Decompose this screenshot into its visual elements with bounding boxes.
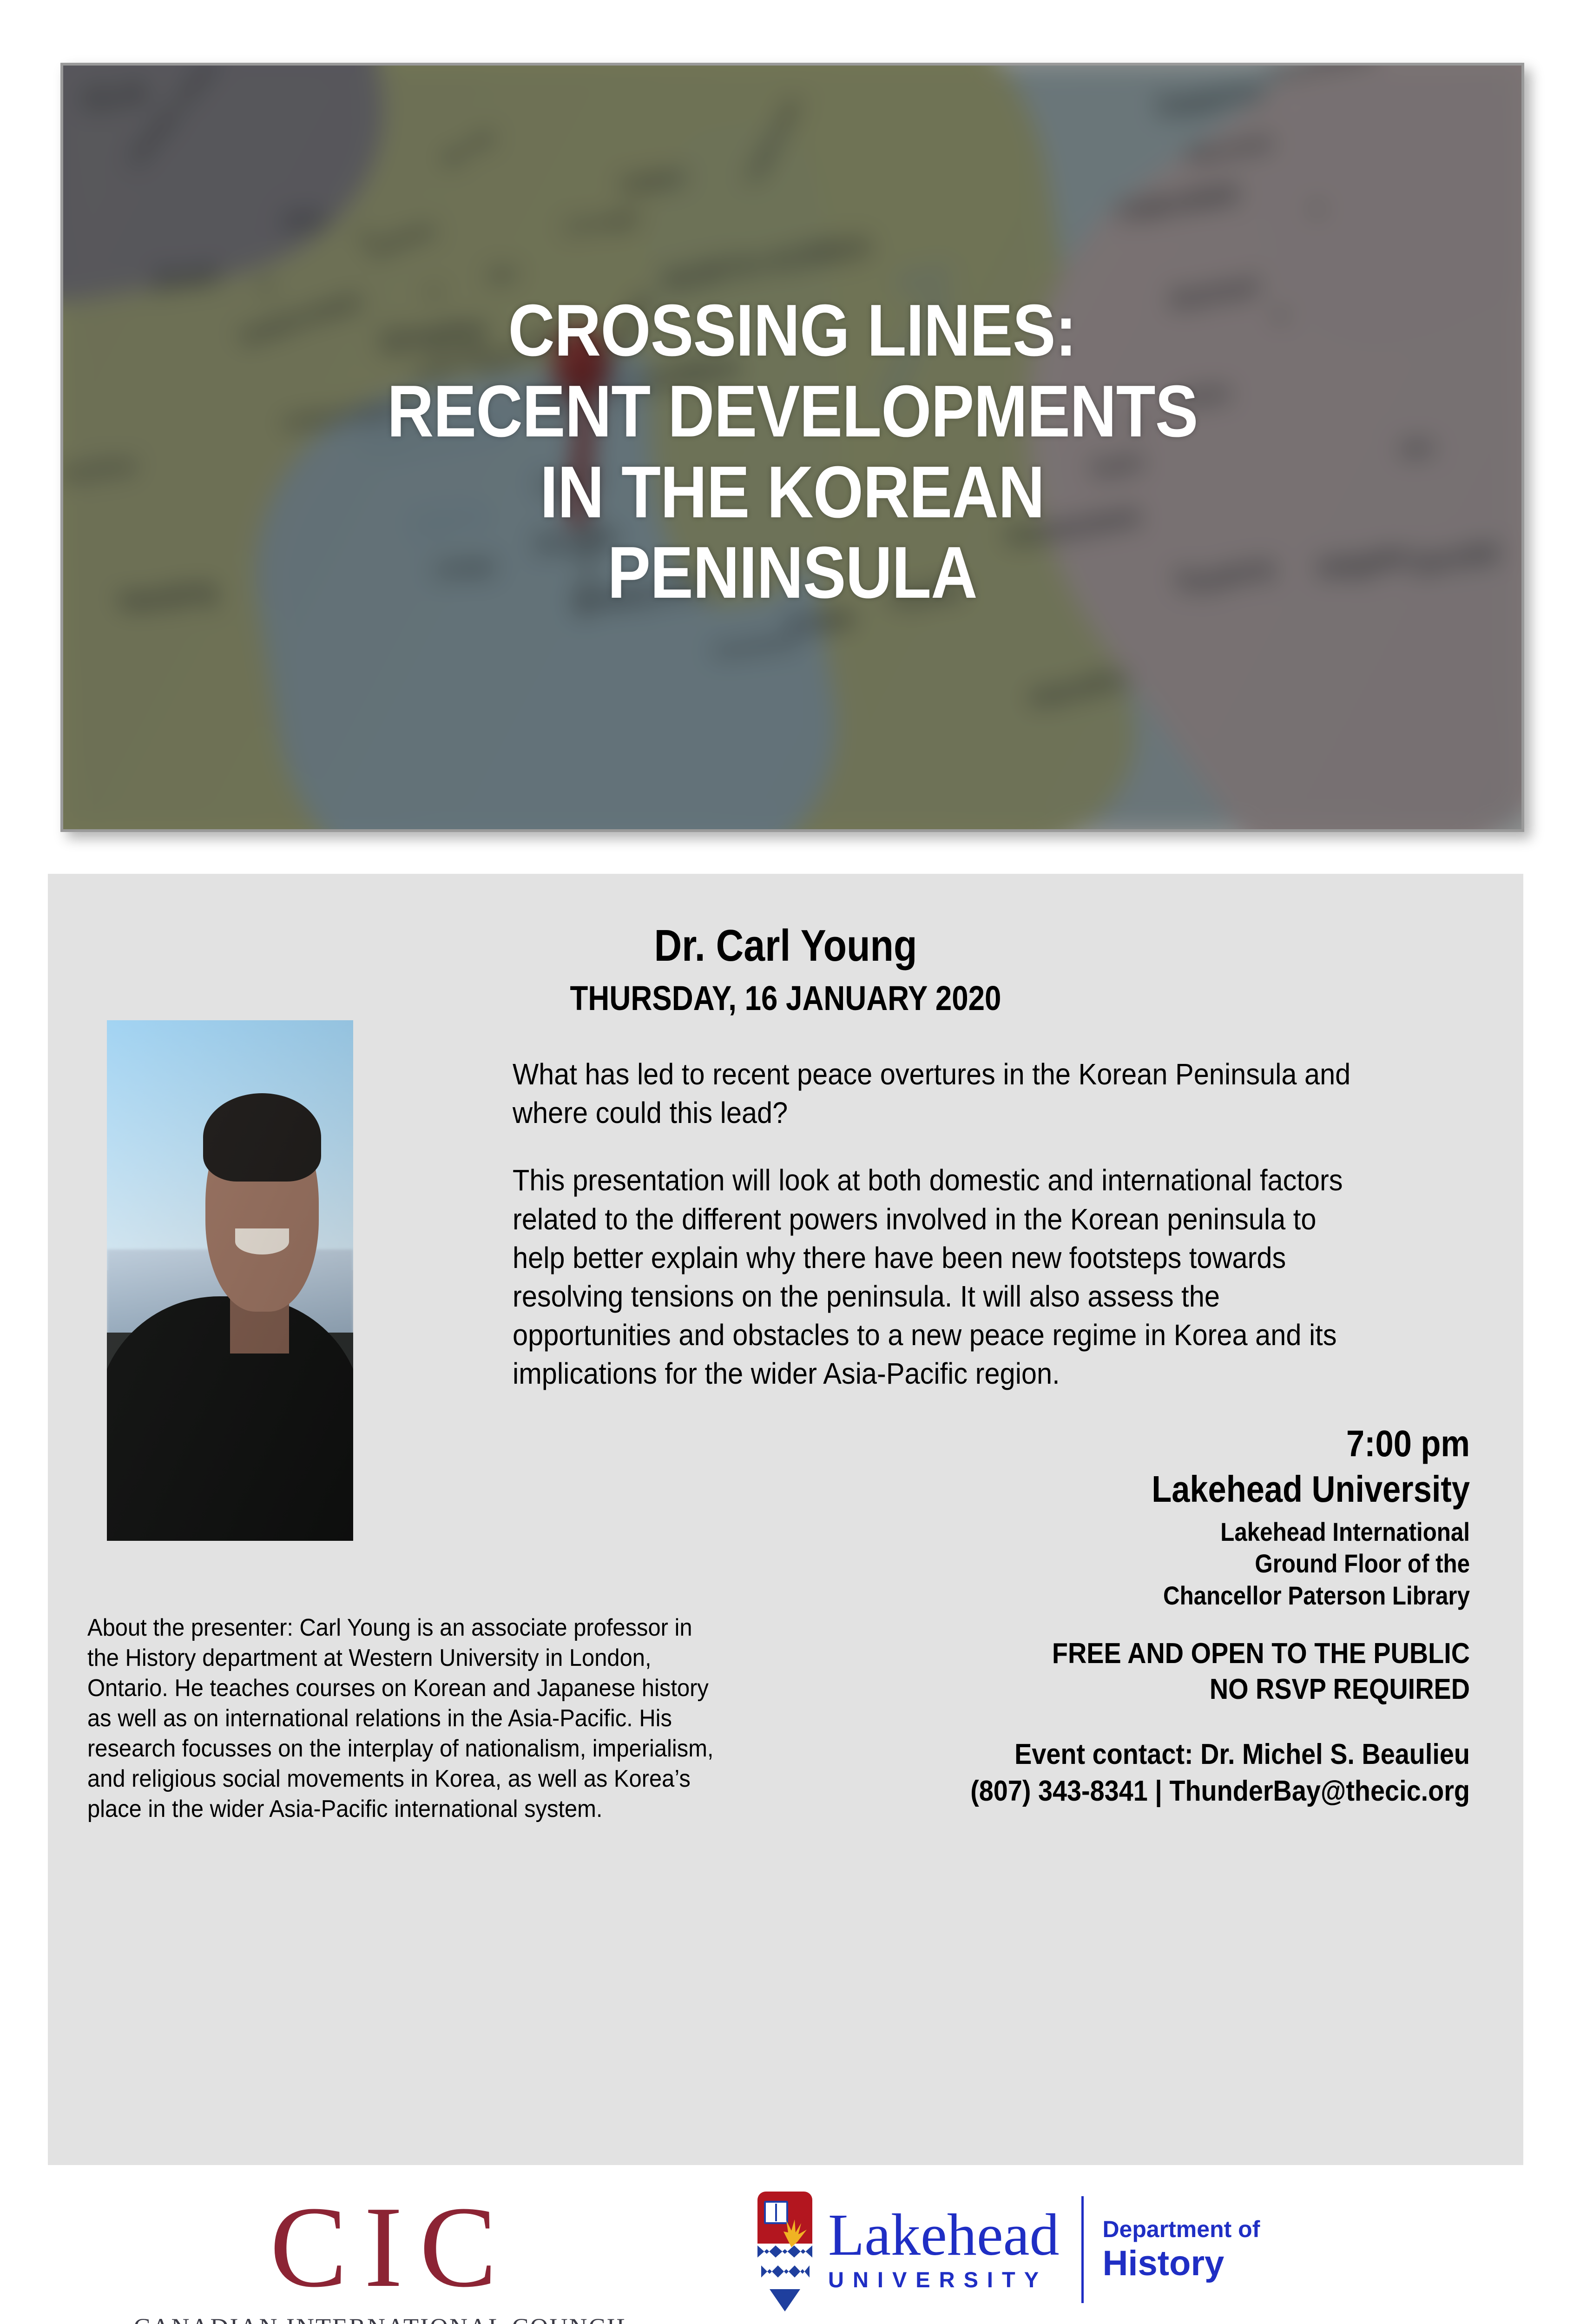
crest-point <box>770 2289 800 2311</box>
crest-sunburst-icon <box>774 2214 809 2247</box>
lakehead-divider <box>1081 2196 1084 2303</box>
lakehead-tag-line-2: History <box>1102 2245 1260 2283</box>
lakehead-name: Lakehead <box>828 2207 1059 2264</box>
lakehead-history-logo[interactable]: Lakehead UNIVERSITY Department of Histor… <box>757 2192 1260 2308</box>
poster-title: CROSSING LINES: RECENT DEVELOPMENTS IN T… <box>63 66 1521 829</box>
lakehead-university-label: UNIVERSITY <box>828 2267 1059 2292</box>
admission-line-1: FREE AND OPEN TO THE PUBLIC <box>759 1636 1470 1672</box>
cic-subtitle-en: CANADIAN INTERNATIONAL COUNCIL <box>93 2313 674 2324</box>
logo-row: CIC CANADIAN INTERNATIONAL COUNCIL CONSE… <box>0 2175 1580 2324</box>
cic-wordmark: CIC <box>93 2189 674 2305</box>
crest-wave-1 <box>757 2244 812 2262</box>
lakehead-crest-icon <box>757 2192 812 2308</box>
title-line-2: RECENT DEVELOPMENTS <box>387 371 1198 452</box>
venue-block: 7:00 pm Lakehead University Lakehead Int… <box>680 1422 1470 1611</box>
lakehead-tag-line-1: Department of <box>1102 2217 1260 2242</box>
venue-institution: Lakehead University <box>775 1468 1470 1511</box>
lakehead-tagline: Department of History <box>1102 2217 1260 2283</box>
title-line-3: IN THE KOREAN <box>540 452 1044 533</box>
venue-line-3: Chancellor Paterson Library <box>775 1580 1470 1611</box>
venue-line-1: Lakehead International <box>775 1516 1470 1548</box>
admission-line-2: NO RSVP REQUIRED <box>759 1672 1470 1708</box>
description-paragraph-2: This presentation will look at both dome… <box>513 1161 1368 1393</box>
contact-name: Event contact: Dr. Michel S. Beaulieu <box>742 1736 1470 1773</box>
presenter-bio: About the presenter: Carl Young is an as… <box>87 1613 717 1824</box>
description-paragraph-1: What has led to recent peace overtures i… <box>513 1055 1368 1132</box>
cic-logo[interactable]: CIC CANADIAN INTERNATIONAL COUNCIL CONSE… <box>93 2189 674 2324</box>
banner-image: OLIA Zibo Jinan Qingdao Weifang Lianyung… <box>60 63 1524 832</box>
content-panel: Dr. Carl Young THURSDAY, 16 JANUARY 2020… <box>48 874 1523 2165</box>
admission-block: FREE AND OPEN TO THE PUBLIC NO RSVP REQU… <box>759 1636 1470 1708</box>
speaker-name: Dr. Carl Young <box>151 920 1420 971</box>
contact-details[interactable]: (807) 343-8341 | ThunderBay@thecic.org <box>742 1773 1470 1809</box>
venue-line-2: Ground Floor of the <box>775 1548 1470 1579</box>
speaker-photo <box>107 1020 353 1541</box>
event-description: What has led to recent peace overtures i… <box>513 1055 1368 1393</box>
lakehead-wordmark: Lakehead UNIVERSITY <box>828 2207 1059 2293</box>
event-date: THURSDAY, 16 JANUARY 2020 <box>151 978 1420 1018</box>
title-line-4: PENINSULA <box>607 533 977 614</box>
crest-wave-2 <box>757 2264 812 2282</box>
contact-block: Event contact: Dr. Michel S. Beaulieu (8… <box>742 1736 1470 1810</box>
event-time: 7:00 pm <box>775 1422 1470 1465</box>
photo-shading <box>107 1020 353 1541</box>
title-line-1: CROSSING LINES: <box>508 290 1077 371</box>
